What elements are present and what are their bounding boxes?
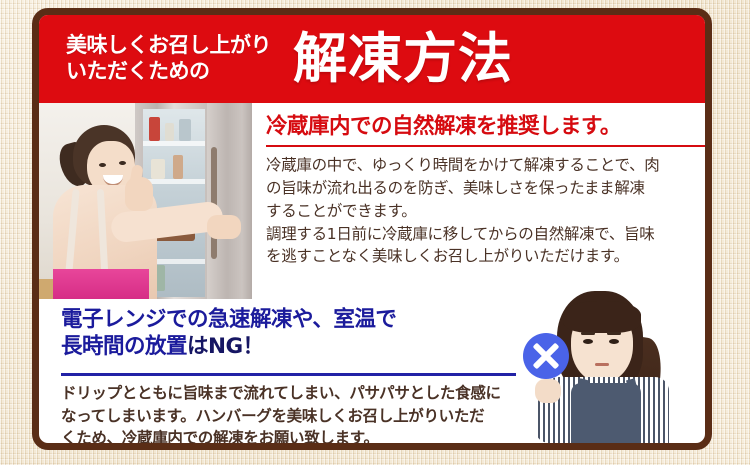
fridge-shelf <box>143 141 205 146</box>
ng-woman-eyebrow <box>607 332 621 335</box>
woman-eye <box>99 163 106 167</box>
fridge-item <box>151 159 165 179</box>
woman-eye <box>119 161 126 165</box>
cross-mark-icon <box>523 333 569 379</box>
ng-body-text: ドリップとともに旨味まで流れてしまい、パサパサとした食感に なってしまいます。ハ… <box>61 382 531 450</box>
ng-divider <box>61 373 516 376</box>
ng-heading-tail: はNG！ <box>187 334 264 359</box>
recommended-text-block: 冷蔵庫内での自然解凍を推奨します。 冷蔵庫の中で、ゆっくり時間をかけて解凍するこ… <box>252 103 712 299</box>
ng-woman-mouth <box>595 363 609 366</box>
fridge-item <box>179 119 191 141</box>
recommend-heading: 冷蔵庫内での自然解凍を推奨します。 <box>266 115 708 140</box>
ng-woman-eye <box>609 339 619 344</box>
header-banner: 美味しくお召し上がり いただくための 解凍方法 <box>38 14 706 103</box>
fridge-item <box>165 123 174 141</box>
refrigerator-photo <box>39 103 252 299</box>
ng-woman-eyebrow <box>581 332 595 335</box>
fridge-item <box>173 155 183 179</box>
ng-woman-hand <box>535 379 561 403</box>
woman-skirt <box>53 269 149 299</box>
info-card: 美味しくお召し上がり いただくための 解凍方法 <box>32 8 712 450</box>
fridge-item <box>149 117 160 141</box>
header-subtitle: 美味しくお召し上がり いただくための <box>66 33 271 84</box>
fridge-shelf <box>143 179 205 184</box>
woman-hand <box>207 215 241 239</box>
recommended-method-section: 冷蔵庫内での自然解凍を推奨します。 冷蔵庫の中で、ゆっくり時間をかけて解凍するこ… <box>39 103 705 299</box>
ng-woman-fringe <box>563 301 641 333</box>
ng-woman-photo <box>501 291 705 443</box>
ng-warning-section: 電子レンジでの急速解凍や、室温で 長時間の放置はNG！ ドリップとともに旨味まで… <box>39 301 705 443</box>
ng-woman-apron <box>571 383 641 443</box>
page-title: 解凍方法 <box>293 32 513 86</box>
ng-heading: 電子レンジでの急速解凍や、室温で 長時間の放置はNG！ <box>61 307 396 361</box>
recommend-body-text: 冷蔵庫の中で、ゆっくり時間をかけて解凍することで、肉 の旨味が流れ出るのを防ぎ、… <box>266 154 708 269</box>
ng-woman-eye <box>583 339 593 344</box>
recommend-divider <box>266 145 708 147</box>
